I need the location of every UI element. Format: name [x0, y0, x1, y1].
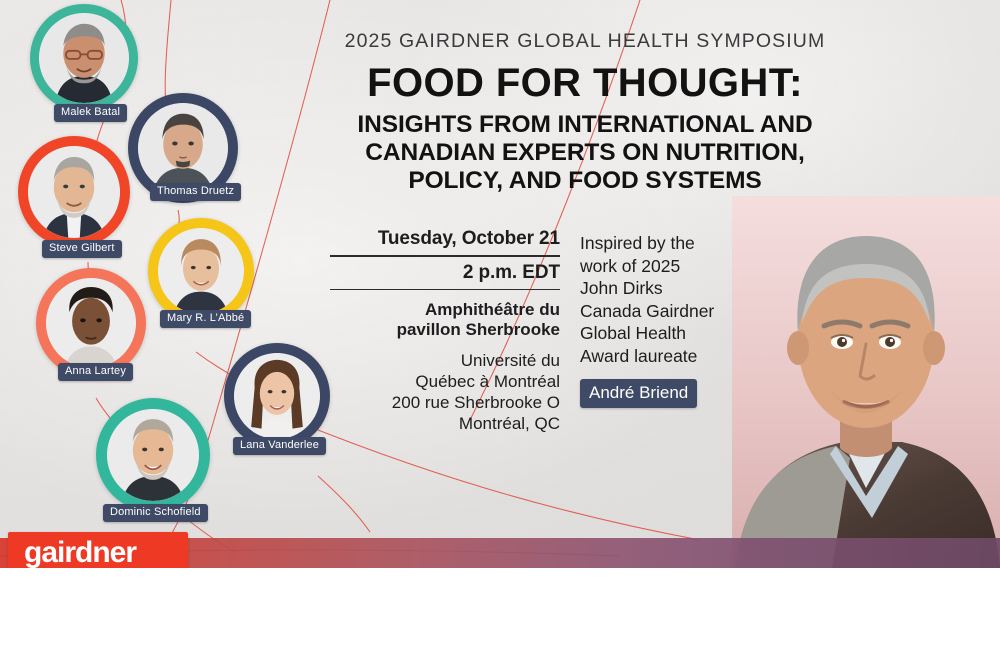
speaker-photo — [158, 228, 244, 314]
speaker-ring — [30, 4, 138, 112]
address-line-4: Montréal, QC — [330, 413, 560, 434]
speaker-name-chip: Steve Gilbert — [42, 240, 122, 258]
speaker-mary-labbe: Mary R. L’Abbé — [148, 218, 254, 324]
speaker-photo — [234, 353, 320, 439]
gairdner-wordmark: gairdner — [24, 536, 136, 570]
speaker-photo — [46, 278, 136, 368]
page-title: FOOD FOR THOUGHT: — [265, 63, 905, 105]
portrait-illustration — [234, 353, 320, 439]
portrait-illustration — [46, 278, 136, 368]
event-address: Université du Québec à Montréal 200 rue … — [330, 350, 560, 434]
subtitle-line-1: INSIGHTS FROM INTERNATIONAL AND — [265, 111, 905, 139]
portrait-illustration — [158, 228, 244, 314]
speaker-thomas-druetz: Thomas Druetz — [128, 93, 238, 203]
speaker-ring — [18, 136, 130, 248]
speaker-ring — [96, 398, 210, 512]
laureate-line-2: work of 2025 — [580, 255, 755, 278]
event-date: Tuesday, October 21 — [330, 228, 560, 250]
portrait-illustration — [28, 146, 120, 238]
page-subtitle: INSIGHTS FROM INTERNATIONAL AND CANADIAN… — [265, 111, 905, 196]
speaker-photo — [138, 103, 228, 193]
laureate-line-3: John Dirks — [580, 277, 755, 300]
laureate-line-4: Canada Gairdner — [580, 300, 755, 323]
speaker-steve-gilbert: Steve Gilbert — [18, 136, 130, 248]
laureate-line-1: Inspired by the — [580, 232, 755, 255]
subtitle-line-2: CANADIAN EXPERTS ON NUTRITION, — [265, 139, 905, 167]
speaker-anna-lartey: Anna Lartey — [36, 268, 146, 378]
subtitle-line-3: POLICY, AND FOOD SYSTEMS — [265, 167, 905, 195]
address-line-1: Université du — [330, 350, 560, 371]
speaker-name-chip: Dominic Schofield — [103, 504, 208, 522]
address-line-3: 200 rue Sherbrooke O — [330, 392, 560, 413]
speaker-ring — [148, 218, 254, 324]
poster-canvas: Malek Batal — [0, 0, 1000, 650]
event-venue: Amphithéâtre du pavillon Sherbrooke — [330, 300, 560, 340]
speaker-photo — [28, 146, 120, 238]
portrait-illustration — [732, 196, 1000, 568]
portrait-illustration — [107, 409, 199, 501]
laureate-name-chip: André Briend — [580, 379, 697, 408]
speaker-name-chip: Anna Lartey — [58, 363, 133, 381]
speaker-name-chip: Thomas Druetz — [150, 183, 241, 201]
headline-block: 2025 GAIRDNER GLOBAL HEALTH SYMPOSIUM FO… — [265, 30, 905, 196]
speaker-ring — [224, 343, 330, 449]
portrait-illustration — [138, 103, 228, 193]
event-eyebrow: 2025 GAIRDNER GLOBAL HEALTH SYMPOSIUM — [265, 30, 905, 53]
portrait-illustration — [39, 13, 129, 103]
venue-line-1: Amphithéâtre du — [330, 300, 560, 320]
address-line-2: Québec à Montréal — [330, 371, 560, 392]
speaker-malek-batal: Malek Batal — [30, 4, 138, 112]
laureate-portrait — [732, 196, 1000, 568]
footer-sponsors: PRESENTED BY IN PARTNERSHIP WITH Institu… — [0, 568, 1000, 650]
details-divider-bottom — [330, 289, 560, 291]
laureate-line-5: Global Health — [580, 322, 755, 345]
speaker-dominic-schofield: Dominic Schofield — [96, 398, 210, 512]
laureate-line-6: Award laureate — [580, 345, 755, 368]
speaker-ring — [36, 268, 146, 378]
event-time: 2 p.m. EDT — [330, 262, 560, 284]
speaker-photo — [39, 13, 129, 103]
event-details: Tuesday, October 21 2 p.m. EDT Amphithéâ… — [330, 228, 560, 434]
speaker-lana-vanderlee: Lana Vanderlee — [224, 343, 330, 449]
laureate-block: Inspired by the work of 2025 John Dirks … — [580, 232, 755, 408]
details-divider-top — [330, 255, 560, 257]
speaker-name-chip: Malek Batal — [54, 104, 127, 122]
venue-line-2: pavillon Sherbrooke — [330, 320, 560, 340]
speaker-name-chip: Lana Vanderlee — [233, 437, 326, 455]
speaker-name-chip: Mary R. L’Abbé — [160, 310, 251, 328]
speaker-photo — [107, 409, 199, 501]
